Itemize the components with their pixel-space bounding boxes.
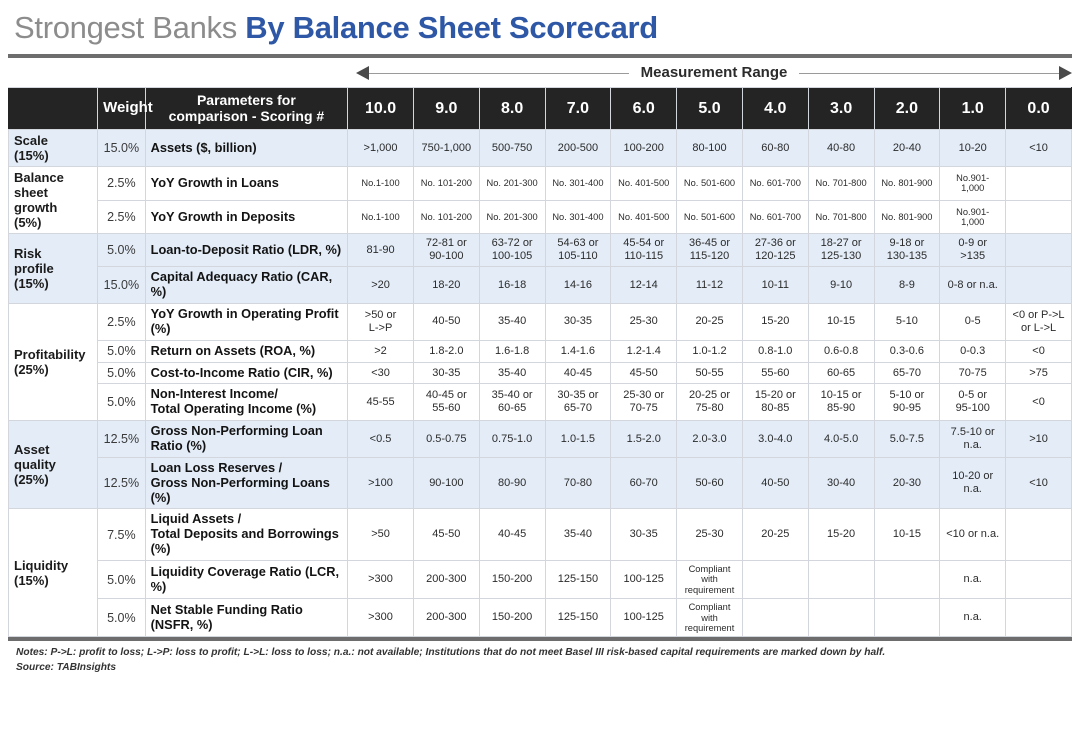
score-cell: >300 [348, 560, 414, 598]
score-value-line: 100-200 [616, 142, 671, 155]
score-value-line: 200-500 [551, 142, 606, 155]
score-cell: No. 801-900 [874, 167, 940, 201]
category-label-line: Asset [14, 442, 92, 457]
score-cell: 5-10 [874, 304, 940, 341]
score-value-line: 40-50 [419, 315, 474, 328]
score-cell: 45-50 [413, 509, 479, 561]
parameter-line: Gross Non-Performing Loans (%) [151, 476, 342, 506]
score-value-line: 45-50 [419, 528, 474, 541]
score-cell: <0.5 [348, 421, 414, 458]
score-cell: 12-14 [611, 267, 677, 304]
score-value-line: 10-20 [945, 142, 1000, 155]
score-value-line: 65-70 [551, 402, 606, 415]
score-value-line: 100-105 [485, 250, 540, 263]
header-category [9, 88, 98, 130]
score-value-line: 105-110 [551, 250, 606, 263]
score-cell [1006, 560, 1072, 598]
score-cell: 8-9 [874, 267, 940, 304]
score-value-line: 60-80 [748, 142, 803, 155]
notes-line: Notes: P->L: profit to loss; L->P: loss … [16, 647, 885, 658]
weight-cell: 2.5% [98, 304, 146, 341]
weight-cell: 15.0% [98, 267, 146, 304]
parameter-cell: Capital Adequacy Ratio (CAR, %) [145, 267, 347, 304]
score-value-line: 110-115 [616, 250, 671, 263]
score-value-line: 25-30 [682, 528, 737, 541]
category-label: Scale(15%) [9, 130, 98, 167]
score-value-line: 20-30 [880, 477, 935, 490]
score-cell: 7.5-10 orn.a. [940, 421, 1006, 458]
score-cell: 50-60 [677, 457, 743, 509]
measurement-range-label: Measurement Range [629, 64, 800, 81]
score-value-line: 85-90 [814, 402, 869, 415]
score-value-line: No.901-1,000 [945, 207, 1000, 228]
score-value-line: No. 701-800 [814, 212, 869, 222]
parameter-line: Total Operating Income (%) [151, 402, 342, 417]
score-value-line: 1.0-1.5 [551, 433, 606, 446]
parameter-line: Total Deposits and Borrowings (%) [151, 527, 342, 557]
score-cell: 125-150 [545, 560, 611, 598]
score-cell: >75 [1006, 362, 1072, 384]
parameter-cell: Liquidity Coverage Ratio (LCR, %) [145, 560, 347, 598]
score-value-line: 63-72 or [485, 237, 540, 250]
score-cell: No.901-1,000 [940, 200, 1006, 234]
score-cell: 3.0-4.0 [742, 421, 808, 458]
score-cell: >50 orL->P [348, 304, 414, 341]
score-value-line: 16-18 [485, 279, 540, 292]
score-cell: 30-35 or65-70 [545, 384, 611, 421]
weight-cell: 15.0% [98, 130, 146, 167]
score-value-line: n.a. [945, 611, 1000, 624]
score-value-line: 7.5-10 or [945, 426, 1000, 439]
score-value-line: 20-40 [880, 142, 935, 155]
score-cell: <0 [1006, 340, 1072, 362]
category-label-line: (15%) [14, 148, 92, 163]
score-cell: 63-72 or100-105 [479, 234, 545, 267]
category-label-line: Scale [14, 133, 92, 148]
score-value-line: 0-5 or [945, 389, 1000, 402]
score-cell: 0.8-1.0 [742, 340, 808, 362]
score-value-line: 18-20 [419, 279, 474, 292]
score-cell: No. 501-600 [677, 200, 743, 234]
category-label: Liquidity(15%) [9, 509, 98, 637]
weight-cell: 7.5% [98, 509, 146, 561]
score-value-line: No. 401-500 [616, 212, 671, 222]
score-value-line: No. 401-500 [616, 178, 671, 188]
header-score-1: 1.0 [940, 88, 1006, 130]
score-value-line: 0-8 or n.a. [945, 279, 1000, 292]
parameter-line: YoY Growth in Loans [151, 176, 342, 191]
title-primary: Strongest Banks [14, 10, 245, 45]
score-value-line: 30-35 [551, 315, 606, 328]
table-header: Weight Parameters for comparison - Scori… [9, 88, 1072, 130]
score-value-line: 1.8-2.0 [419, 345, 474, 358]
score-value-line: No. 501-600 [682, 178, 737, 188]
category-label-line: quality [14, 457, 92, 472]
score-value-line: 12-14 [616, 279, 671, 292]
score-cell: 0.5-0.75 [413, 421, 479, 458]
score-value-line: 80-100 [682, 142, 737, 155]
score-value-line: 50-55 [682, 367, 737, 380]
score-cell: <10 [1006, 130, 1072, 167]
score-value-line: 30-35 [419, 367, 474, 380]
score-value-line: <10 [1011, 142, 1066, 155]
score-cell: 35-40 [479, 304, 545, 341]
parameter-line: Loan-to-Deposit Ratio (LDR, %) [151, 243, 342, 258]
score-cell: 200-500 [545, 130, 611, 167]
score-cell: 40-50 [413, 304, 479, 341]
score-value-line: No.1-100 [353, 212, 408, 222]
score-value-line: No. 201-300 [485, 178, 540, 188]
score-cell: No. 201-300 [479, 200, 545, 234]
score-value-line: 100-125 [616, 611, 671, 624]
score-value-line: 100-125 [616, 573, 671, 586]
score-value-line: No. 201-300 [485, 212, 540, 222]
category-label: Balancesheetgrowth(5%) [9, 167, 98, 234]
score-cell: n.a. [940, 560, 1006, 598]
score-value-line: 25-30 [616, 315, 671, 328]
score-value-line: 27-36 or [748, 237, 803, 250]
score-cell: 10-15 [808, 304, 874, 341]
score-cell: 45-55 [348, 384, 414, 421]
score-cell: 20-25 [677, 304, 743, 341]
header-score-8: 8.0 [479, 88, 545, 130]
score-value-line: <0 [1011, 396, 1066, 409]
score-value-line: 5.0-7.5 [880, 433, 935, 446]
score-value-line: 90-95 [880, 402, 935, 415]
parameter-line: Non-Interest Income/ [151, 387, 342, 402]
score-value-line: 1.2-1.4 [616, 345, 671, 358]
score-cell: >50 [348, 509, 414, 561]
score-cell: n.a. [940, 599, 1006, 637]
score-cell: 40-50 [742, 457, 808, 509]
score-value-line: Compliant with [682, 602, 737, 623]
score-cell: 5.0-7.5 [874, 421, 940, 458]
score-cell: 500-750 [479, 130, 545, 167]
score-value-line: 3.0-4.0 [748, 433, 803, 446]
score-cell: 1.8-2.0 [413, 340, 479, 362]
header-score-6: 6.0 [611, 88, 677, 130]
page-title: Strongest Banks By Balance Sheet Scoreca… [8, 0, 1072, 52]
score-cell: 150-200 [479, 599, 545, 637]
score-value-line: 81-90 [353, 244, 408, 257]
score-value-line: requirement [682, 585, 737, 595]
score-value-line: 15-20 [814, 528, 869, 541]
score-cell: 90-100 [413, 457, 479, 509]
score-cell: <10 [1006, 457, 1072, 509]
score-value-line: 90-100 [419, 477, 474, 490]
scorecard-page: Strongest Banks By Balance Sheet Scoreca… [0, 0, 1080, 737]
category-label-line: (5%) [14, 215, 92, 230]
score-cell [1006, 167, 1072, 201]
score-value-line: 30-35 [616, 528, 671, 541]
score-cell: 54-63 or105-110 [545, 234, 611, 267]
header-score-9: 9.0 [413, 88, 479, 130]
score-value-line: 40-50 [748, 477, 803, 490]
score-cell: No. 801-900 [874, 200, 940, 234]
table-row: 5.0%Cost-to-Income Ratio (CIR, %)<3030-3… [9, 362, 1072, 384]
score-cell: 125-150 [545, 599, 611, 637]
score-cell: <0 [1006, 384, 1072, 421]
score-cell: 150-200 [479, 560, 545, 598]
score-cell: 40-45 or55-60 [413, 384, 479, 421]
score-value-line: >100 [353, 477, 408, 490]
score-value-line: 15-20 [748, 315, 803, 328]
score-value-line: L->P [353, 322, 408, 335]
score-value-line: >300 [353, 573, 408, 586]
score-value-line: n.a. [945, 439, 1000, 452]
category-label-line: Profitability [14, 347, 92, 362]
parameter-line: Gross Non-Performing Loan Ratio (%) [151, 424, 342, 454]
score-value-line: 0-0.3 [945, 345, 1000, 358]
score-value-line: >1,000 [353, 142, 408, 155]
score-cell: No.1-100 [348, 200, 414, 234]
score-value-line: 35-40 [485, 367, 540, 380]
score-cell: >300 [348, 599, 414, 637]
table-row: Riskprofile(15%)5.0%Loan-to-Deposit Rati… [9, 234, 1072, 267]
score-value-line: 200-300 [419, 573, 474, 586]
score-cell: 10-20 orn.a. [940, 457, 1006, 509]
header-score-7: 7.0 [545, 88, 611, 130]
score-value-line: 70-80 [551, 477, 606, 490]
score-cell: 55-60 [742, 362, 808, 384]
score-value-line: 10-15 [880, 528, 935, 541]
score-value-line: 60-65 [814, 367, 869, 380]
score-value-line: 35-40 or [485, 389, 540, 402]
score-value-line: n.a. [945, 573, 1000, 586]
score-cell: 1.6-1.8 [479, 340, 545, 362]
score-value-line: 5-10 or [880, 389, 935, 402]
header-parameters: Parameters for comparison - Scoring # [145, 88, 347, 130]
score-cell [1006, 200, 1072, 234]
score-value-line: 18-27 or [814, 237, 869, 250]
score-value-line: No. 301-400 [551, 212, 606, 222]
parameter-line: Assets ($, billion) [151, 141, 342, 156]
parameter-cell: Cost-to-Income Ratio (CIR, %) [145, 362, 347, 384]
parameter-cell: Return on Assets (ROA, %) [145, 340, 347, 362]
score-cell: No. 201-300 [479, 167, 545, 201]
score-cell: Compliant withrequirement [677, 560, 743, 598]
score-value-line: 10-11 [748, 279, 803, 292]
score-cell: 35-40 [545, 509, 611, 561]
score-value-line: or L->L [1011, 322, 1066, 335]
score-cell: 45-54 or110-115 [611, 234, 677, 267]
parameter-cell: Non-Interest Income/Total Operating Inco… [145, 384, 347, 421]
score-cell: 0-5 or95-100 [940, 384, 1006, 421]
parameter-cell: YoY Growth in Operating Profit (%) [145, 304, 347, 341]
score-cell: 20-40 [874, 130, 940, 167]
score-value-line: 20-25 or [682, 389, 737, 402]
category-label-line: sheet [14, 185, 92, 200]
score-cell: 9-10 [808, 267, 874, 304]
score-cell: No. 601-700 [742, 167, 808, 201]
score-value-line: >50 [353, 528, 408, 541]
score-value-line: 45-54 or [616, 237, 671, 250]
score-value-line: 35-40 [551, 528, 606, 541]
score-cell: 30-40 [808, 457, 874, 509]
score-value-line: 70-75 [945, 367, 1000, 380]
score-value-line: 120-125 [748, 250, 803, 263]
score-value-line: No. 801-900 [880, 178, 935, 188]
score-cell: <0 or P->Lor L->L [1006, 304, 1072, 341]
score-value-line: 40-45 [551, 367, 606, 380]
score-cell: 10-11 [742, 267, 808, 304]
category-label-line: Risk [14, 246, 92, 261]
score-cell: No. 701-800 [808, 200, 874, 234]
score-value-line: 8-9 [880, 279, 935, 292]
score-cell [1006, 599, 1072, 637]
table-row: Assetquality(25%)12.5%Gross Non-Performi… [9, 421, 1072, 458]
score-value-line: 0.5-0.75 [419, 433, 474, 446]
parameter-cell: Loan-to-Deposit Ratio (LDR, %) [145, 234, 347, 267]
score-value-line: 2.0-3.0 [682, 433, 737, 446]
score-value-line: 54-63 or [551, 237, 606, 250]
score-cell: 1.0-1.2 [677, 340, 743, 362]
score-cell: 70-75 [940, 362, 1006, 384]
score-value-line: 4.0-5.0 [814, 433, 869, 446]
score-cell: 81-90 [348, 234, 414, 267]
score-value-line: 30-35 or [551, 389, 606, 402]
score-cell: 10-15 [874, 509, 940, 561]
score-cell: 27-36 or120-125 [742, 234, 808, 267]
score-value-line: 65-70 [880, 367, 935, 380]
score-value-line: <0 or P->L [1011, 309, 1066, 322]
score-cell: 60-70 [611, 457, 677, 509]
weight-cell: 2.5% [98, 200, 146, 234]
table-row: 2.5%YoY Growth in DepositsNo.1-100No. 10… [9, 200, 1072, 234]
score-value-line: 36-45 or [682, 237, 737, 250]
parameter-line: YoY Growth in Operating Profit (%) [151, 307, 342, 337]
score-cell: No.901-1,000 [940, 167, 1006, 201]
score-cell: 50-55 [677, 362, 743, 384]
score-value-line: 70-75 [616, 402, 671, 415]
score-cell: 25-30 [611, 304, 677, 341]
score-value-line: 125-130 [814, 250, 869, 263]
parameter-line: Capital Adequacy Ratio (CAR, %) [151, 270, 342, 300]
score-value-line: >50 or [353, 309, 408, 322]
score-value-line: 125-150 [551, 573, 606, 586]
title-secondary: By Balance Sheet Scorecard [245, 10, 658, 45]
score-cell: 36-45 or115-120 [677, 234, 743, 267]
score-cell: 45-50 [611, 362, 677, 384]
weight-cell: 2.5% [98, 167, 146, 201]
score-value-line: <30 [353, 367, 408, 380]
score-value-line: 1.6-1.8 [485, 345, 540, 358]
score-cell: <30 [348, 362, 414, 384]
score-cell: No. 701-800 [808, 167, 874, 201]
score-cell: 18-27 or125-130 [808, 234, 874, 267]
score-value-line: 150-200 [485, 573, 540, 586]
score-cell: 0-8 or n.a. [940, 267, 1006, 304]
score-value-line: <0.5 [353, 433, 408, 446]
score-cell: 80-100 [677, 130, 743, 167]
score-value-line: 72-81 or [419, 237, 474, 250]
score-value-line: 25-30 or [616, 389, 671, 402]
score-cell: >100 [348, 457, 414, 509]
score-cell: >2 [348, 340, 414, 362]
category-label-line: (25%) [14, 472, 92, 487]
score-value-line: >2 [353, 345, 408, 358]
score-value-line: 0.3-0.6 [880, 345, 935, 358]
header-parameters-line2: comparison - Scoring # [151, 109, 342, 125]
score-cell: 30-35 [413, 362, 479, 384]
parameter-line: YoY Growth in Deposits [151, 210, 342, 225]
score-cell: 40-45 [479, 509, 545, 561]
header-score-10: 10.0 [348, 88, 414, 130]
score-cell: 25-30 or70-75 [611, 384, 677, 421]
score-cell [874, 599, 940, 637]
score-value-line: 95-100 [945, 402, 1000, 415]
score-cell [742, 560, 808, 598]
score-cell: 2.0-3.0 [677, 421, 743, 458]
score-cell: No. 101-200 [413, 200, 479, 234]
score-value-line: 0.75-1.0 [485, 433, 540, 446]
parameter-cell: Loan Loss Reserves /Gross Non-Performing… [145, 457, 347, 509]
table-row: 5.0%Liquidity Coverage Ratio (LCR, %)>30… [9, 560, 1072, 598]
score-value-line: 10-15 or [814, 389, 869, 402]
score-cell: 60-65 [808, 362, 874, 384]
score-cell: 25-30 [677, 509, 743, 561]
score-cell: 15-20 [742, 304, 808, 341]
score-cell: No. 601-700 [742, 200, 808, 234]
weight-cell: 5.0% [98, 234, 146, 267]
score-value-line: 1.5-2.0 [616, 433, 671, 446]
weight-cell: 12.5% [98, 457, 146, 509]
score-cell: 10-20 [940, 130, 1006, 167]
score-value-line: 55-60 [748, 367, 803, 380]
parameter-line: Cost-to-Income Ratio (CIR, %) [151, 366, 342, 381]
score-cell: 80-90 [479, 457, 545, 509]
score-cell: 750-1,000 [413, 130, 479, 167]
score-cell: 100-125 [611, 560, 677, 598]
score-cell [874, 560, 940, 598]
score-cell: 1.2-1.4 [611, 340, 677, 362]
score-value-line: 50-60 [682, 477, 737, 490]
table-row: Liquidity(15%)7.5%Liquid Assets /Total D… [9, 509, 1072, 561]
score-cell: 65-70 [874, 362, 940, 384]
score-cell: 40-80 [808, 130, 874, 167]
score-cell: 30-35 [545, 304, 611, 341]
score-value-line: No. 101-200 [419, 178, 474, 188]
score-cell: 35-40 or60-65 [479, 384, 545, 421]
table-row: 5.0%Non-Interest Income/Total Operating … [9, 384, 1072, 421]
score-value-line: 200-300 [419, 611, 474, 624]
weight-cell: 5.0% [98, 560, 146, 598]
score-value-line: 0-9 or [945, 237, 1000, 250]
score-value-line: 0.8-1.0 [748, 345, 803, 358]
category-label-line: Balance [14, 170, 92, 185]
score-cell: 20-30 [874, 457, 940, 509]
score-cell [1006, 234, 1072, 267]
score-value-line: No. 301-400 [551, 178, 606, 188]
score-cell [808, 560, 874, 598]
category-label: Assetquality(25%) [9, 421, 98, 509]
score-cell: 10-15 or85-90 [808, 384, 874, 421]
scorecard-table: Weight Parameters for comparison - Scori… [8, 87, 1072, 637]
header-score-4: 4.0 [742, 88, 808, 130]
score-value-line: 45-50 [616, 367, 671, 380]
score-value-line: 14-16 [551, 279, 606, 292]
score-value-line: <0 [1011, 345, 1066, 358]
score-cell: 9-18 or130-135 [874, 234, 940, 267]
score-value-line: 9-18 or [880, 237, 935, 250]
header-score-3: 3.0 [808, 88, 874, 130]
score-value-line: No. 601-700 [748, 178, 803, 188]
score-value-line: 0-5 [945, 315, 1000, 328]
header-score-5: 5.0 [677, 88, 743, 130]
category-label-line: Liquidity [14, 558, 92, 573]
parameter-cell: YoY Growth in Deposits [145, 200, 347, 234]
parameter-cell: Liquid Assets /Total Deposits and Borrow… [145, 509, 347, 561]
